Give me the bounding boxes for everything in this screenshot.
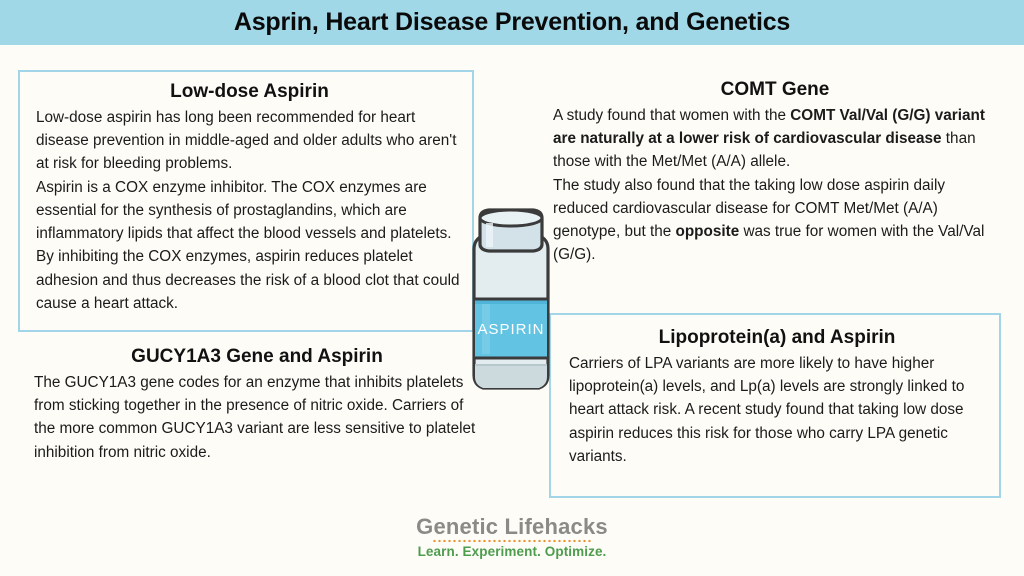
brand-tagline: Learn. Experiment. Optimize.	[418, 544, 607, 559]
bottle-base-shade	[475, 365, 547, 388]
footer-logo: Genetic Lifehacks Learn. Experiment. Opt…	[0, 515, 1024, 570]
section-paragraph-comt-2: The study also found that the taking low…	[553, 174, 997, 267]
comt-p1-lead: A study found that women with the	[553, 107, 790, 124]
bottle-cap-highlight	[486, 223, 493, 247]
logo-dotted-divider	[432, 539, 592, 543]
section-paragraph-gucy1a3: The GUCY1A3 gene codes for an enzyme tha…	[34, 371, 480, 464]
header-band: Asprin, Heart Disease Prevention, and Ge…	[0, 0, 1024, 45]
page-title: Asprin, Heart Disease Prevention, and Ge…	[234, 8, 790, 37]
section-gucy1a3: GUCY1A3 Gene and Aspirin The GUCY1A3 gen…	[18, 345, 484, 475]
section-paragraph-comt-1: A study found that women with the COMT V…	[553, 104, 997, 174]
section-paragraph-low-dose-1: Low-dose aspirin has long been recommend…	[36, 106, 463, 176]
section-title-low-dose-aspirin: Low-dose Aspirin	[36, 80, 463, 104]
bottle-label-text: ASPIRIN	[477, 321, 544, 338]
section-title-comt-gene: COMT Gene	[553, 78, 997, 102]
section-low-dose-aspirin: Low-dose Aspirin Low-dose aspirin has lo…	[18, 70, 474, 332]
aspirin-bottle-illustration: ASPIRIN	[456, 207, 566, 397]
section-lipoprotein-a: Lipoprotein(a) and Aspirin Carriers of L…	[549, 313, 1001, 498]
section-paragraph-low-dose-2: Aspirin is a COX enzyme inhibitor. The C…	[36, 176, 463, 316]
section-paragraph-lipoprotein-a: Carriers of LPA variants are more likely…	[569, 352, 985, 468]
section-title-lipoprotein-a: Lipoprotein(a) and Aspirin	[569, 326, 985, 350]
brand-name: Genetic Lifehacks	[416, 515, 608, 538]
comt-p2-bold: opposite	[675, 223, 739, 240]
section-title-gucy1a3: GUCY1A3 Gene and Aspirin	[34, 345, 480, 369]
section-comt-gene: COMT Gene A study found that women with …	[549, 70, 1001, 292]
